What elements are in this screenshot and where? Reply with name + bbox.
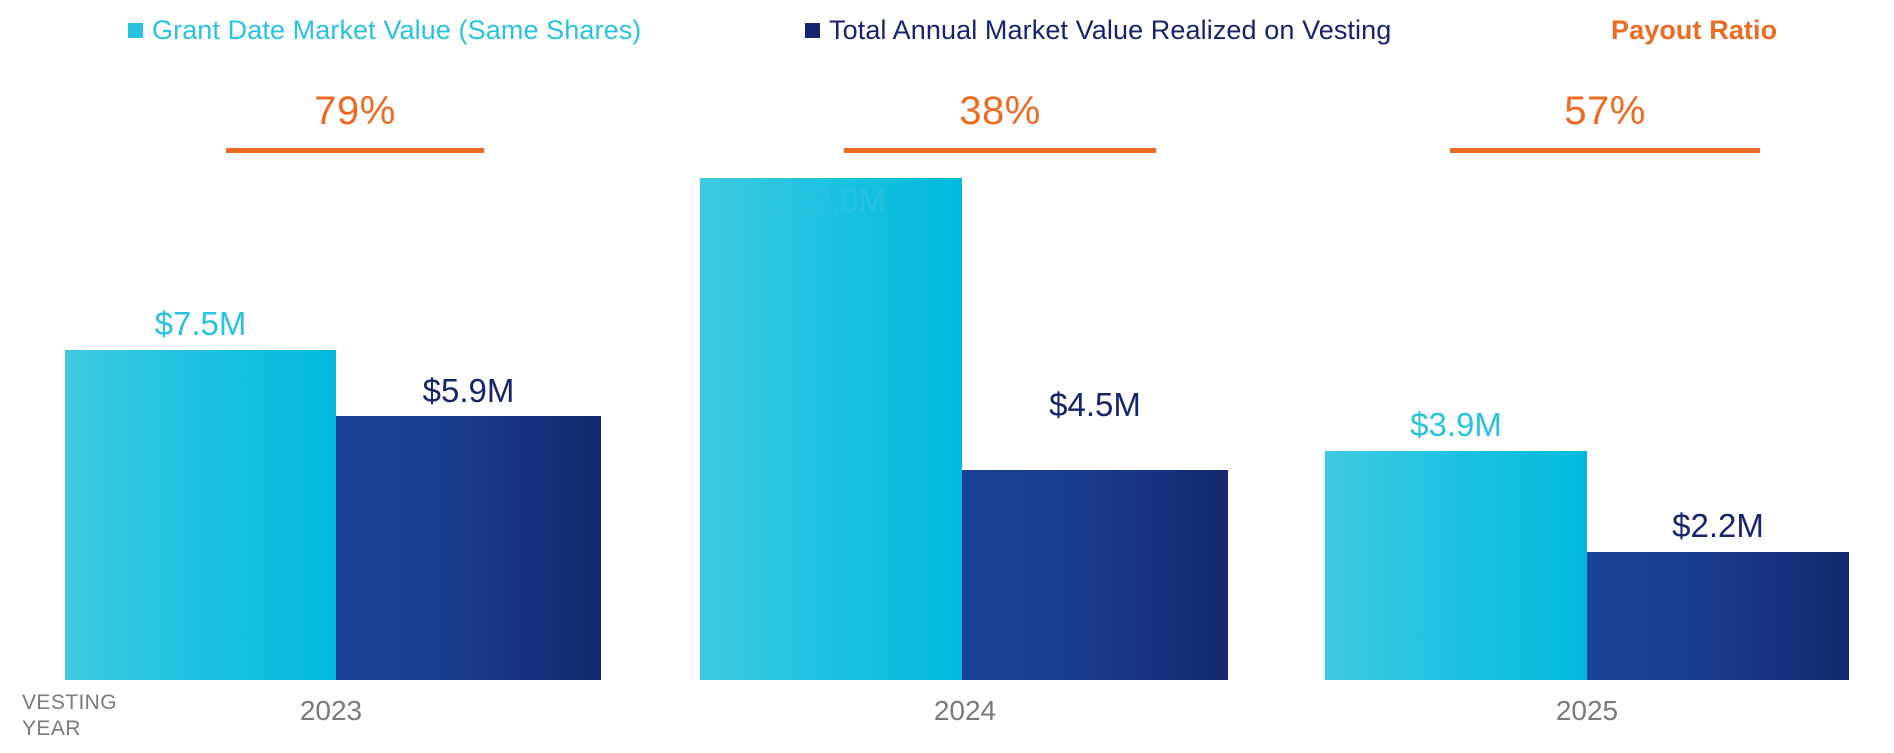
bar-total-2023[interactable] — [336, 416, 601, 680]
axis-title-vesting-year: VESTING YEAR — [22, 690, 117, 742]
bar-value-label-grant-2023: $7.5M — [65, 305, 336, 343]
category-label-2024: 2024 — [840, 694, 1090, 728]
category-label-2023: 2023 — [206, 694, 456, 728]
bar-grant-2024[interactable] — [700, 178, 962, 680]
axis-title-line-2: YEAR — [22, 716, 117, 742]
bar-value-label-total-2025: $2.2M — [1587, 507, 1849, 545]
bar-value-label-grant-2025: $3.9M — [1325, 406, 1587, 444]
bar-total-2024[interactable] — [962, 470, 1228, 680]
axis-title-line-1: VESTING — [22, 690, 117, 716]
chart-canvas: Grant Date Market Value (Same Shares) To… — [0, 0, 1894, 753]
bar-grant-2023[interactable] — [65, 350, 336, 680]
category-label-2025: 2025 — [1462, 694, 1712, 728]
bar-grant-2025[interactable] — [1325, 451, 1587, 680]
bar-total-2025[interactable] — [1587, 552, 1849, 680]
plot-area: $7.5M $5.9M $12.0M $4.5M $3.9M $2.2M — [0, 0, 1894, 753]
bar-value-label-total-2023: $5.9M — [336, 372, 601, 410]
bar-value-label-grant-2024: $12.0M — [700, 182, 962, 220]
bar-value-label-total-2024: $4.5M — [962, 386, 1228, 424]
